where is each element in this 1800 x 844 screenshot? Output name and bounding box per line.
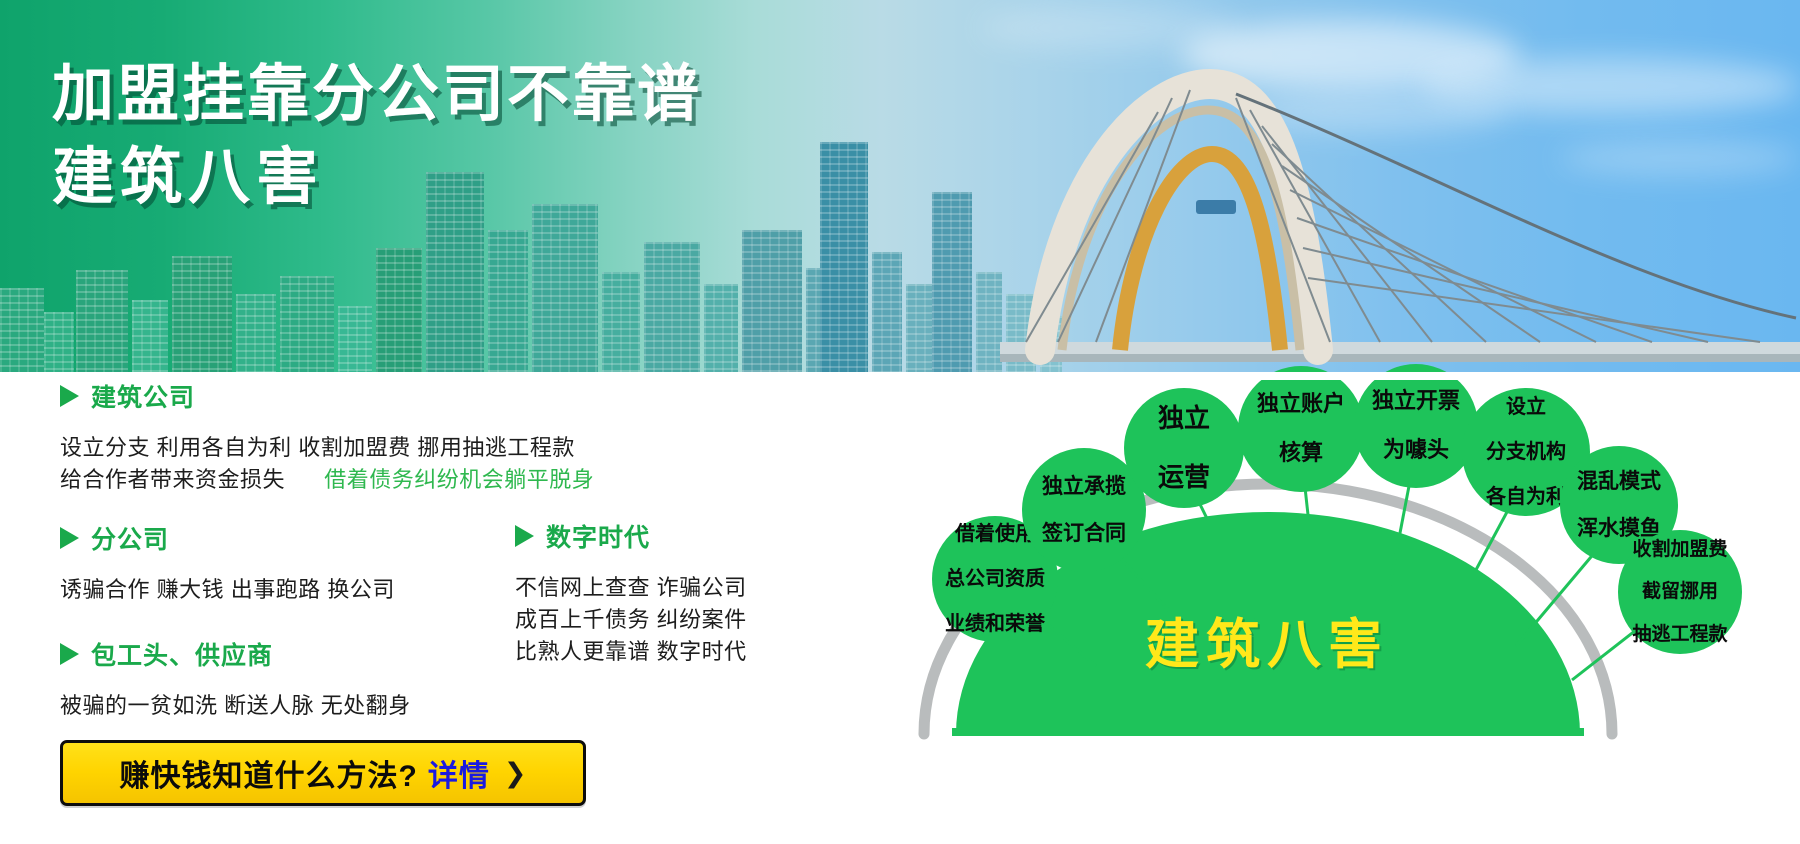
bubble-text: 独立账户核算 xyxy=(1249,392,1353,466)
triangle-right-icon xyxy=(60,385,79,407)
body-line: 比熟人更靠谱 数字时代 xyxy=(515,636,747,668)
bubble-harvest-franchise-fee[interactable]: 收割加盟费截留挪用抽逃工程款 xyxy=(1618,530,1742,654)
bubble-text: 设立分支机构各自为利 xyxy=(1478,396,1574,508)
body-line: 给合作者带来资金损失 借着债务纠纷机会躺平脱身 xyxy=(60,464,594,496)
section-header: 建筑公司 xyxy=(60,378,594,414)
body-line: 被骗的一贫如洗 断送人脉 无处翻身 xyxy=(60,690,411,722)
body-text-plain: 给合作者带来资金损失 xyxy=(60,467,285,492)
cta-button[interactable]: 赚快钱知道什么方法? 详情 ❯ xyxy=(60,740,586,806)
bubble-independent-invoice[interactable]: 独立开票为噱头 xyxy=(1354,364,1478,488)
section-construction-company: 建筑公司 设立分支 利用各自为利 收割加盟费 挪用抽逃工程款 给合作者带来资金损… xyxy=(60,378,594,496)
section-branch-company: 分公司 诱骗合作 赚大钱 出事跑路 换公司 xyxy=(60,520,395,606)
eight-harms-diagram: 借着使用总公司资质业绩和荣誉 独立承揽签订合同 独立运营 独立账户核算 独立开票… xyxy=(900,388,1800,844)
bubble-text: 独立承揽签订合同 xyxy=(1034,475,1134,546)
diagram-center-label: 建筑八害 xyxy=(1072,600,1462,679)
left-content: 建筑公司 设立分支 利用各自为利 收割加盟费 挪用抽逃工程款 给合作者带来资金损… xyxy=(0,388,900,844)
bubble-independent-account[interactable]: 独立账户核算 xyxy=(1238,366,1364,492)
body-line: 成百上千债务 纠纷案件 xyxy=(515,604,747,636)
body-line: 诱骗合作 赚大钱 出事跑路 换公司 xyxy=(60,574,395,606)
hero-title-group: 加盟挂靠分公司不靠谱 建筑八害 xyxy=(52,58,702,217)
triangle-right-icon xyxy=(60,527,79,549)
body-text-highlight: 借着债务纠纷机会躺平脱身 xyxy=(324,467,594,492)
section-contractor-supplier: 包工头、供应商 被骗的一贫如洗 断送人脉 无处翻身 xyxy=(60,636,411,722)
hero-bottom-divider xyxy=(0,372,1800,380)
bubble-independent-operation[interactable]: 独立运营 xyxy=(1124,388,1244,508)
body-line: 不信网上查查 诈骗公司 xyxy=(515,572,747,604)
body-line: 设立分支 利用各自为利 收割加盟费 挪用抽逃工程款 xyxy=(60,432,594,464)
section-header: 数字时代 xyxy=(515,518,747,554)
liede-bridge-icon xyxy=(1000,50,1800,380)
section-body: 被骗的一贫如洗 断送人脉 无处翻身 xyxy=(60,690,411,722)
chevron-right-icon: ❯ xyxy=(504,758,527,789)
cta-detail-link[interactable]: 详情 xyxy=(428,751,490,795)
poster-root: 加盟挂靠分公司不靠谱 建筑八害 建筑公司 设立分支 利用各自为利 收割加盟费 挪… xyxy=(0,0,1800,844)
bubble-text: 独立运营 xyxy=(1150,404,1218,491)
section-title: 分公司 xyxy=(91,520,169,556)
section-body: 设立分支 利用各自为利 收割加盟费 挪用抽逃工程款 给合作者带来资金损失 借着债… xyxy=(60,432,594,496)
section-header: 分公司 xyxy=(60,520,395,556)
section-title: 数字时代 xyxy=(546,518,650,554)
bubble-text: 混乱模式浑水摸鱼 xyxy=(1569,470,1669,541)
triangle-right-icon xyxy=(515,525,534,547)
section-title: 建筑公司 xyxy=(91,378,195,414)
cta-label: 赚快钱知道什么方法? xyxy=(120,751,418,795)
hero-subheadline: 建筑八害 xyxy=(52,139,702,217)
hero-headline: 加盟挂靠分公司不靠谱 xyxy=(52,58,702,131)
section-body: 不信网上查查 诈骗公司 成百上千债务 纠纷案件 比熟人更靠谱 数字时代 xyxy=(515,572,747,668)
section-title: 包工头、供应商 xyxy=(91,636,273,672)
bubble-text: 独立开票为噱头 xyxy=(1364,389,1468,463)
bubble-text: 收割加盟费截留挪用抽逃工程款 xyxy=(1624,539,1735,645)
section-body: 诱骗合作 赚大钱 出事跑路 换公司 xyxy=(60,574,395,606)
triangle-right-icon xyxy=(60,643,79,665)
section-digital-age: 数字时代 不信网上查查 诈骗公司 成百上千债务 纠纷案件 比熟人更靠谱 数字时代 xyxy=(515,518,747,668)
hero-banner: 加盟挂靠分公司不靠谱 建筑八害 xyxy=(0,0,1800,380)
section-header: 包工头、供应商 xyxy=(60,636,411,672)
